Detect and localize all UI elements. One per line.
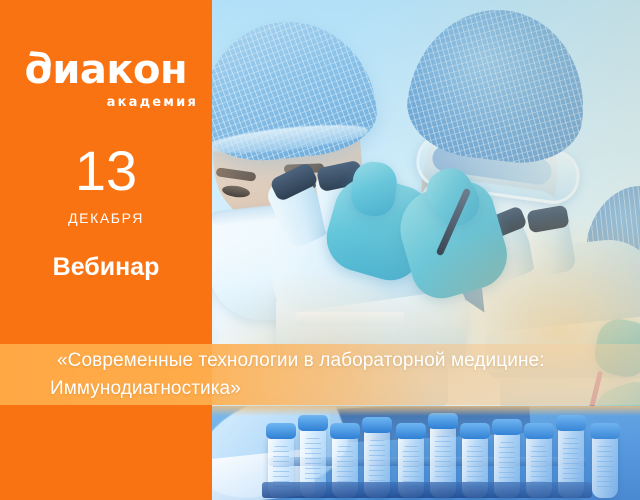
- webinar-title-line-1: «Современные технологии в лабораторной м…: [50, 347, 630, 375]
- logo-wordmark: биакон: [0, 50, 212, 90]
- logo-delta-glyph: б: [25, 50, 52, 90]
- orange-side-panel: биакон академия 13 ДЕКАБРЯ Вебинар: [0, 0, 212, 500]
- webinar-poster: биакон академия 13 ДЕКАБРЯ Вебинар «Совр…: [0, 0, 640, 500]
- event-type-label: Вебинар: [0, 255, 212, 280]
- event-month: ДЕКАБРЯ: [0, 211, 212, 225]
- diakon-academy-logo: биакон академия: [0, 50, 212, 109]
- microscope-1-slide-holder: [296, 312, 404, 326]
- event-day: 13: [0, 143, 212, 199]
- tube-rack-base: [262, 482, 592, 498]
- logo-subtitle: академия: [0, 96, 212, 109]
- test-tube: [592, 436, 618, 498]
- logo-wordmark-rest: иакон: [52, 47, 187, 93]
- webinar-title: «Современные технологии в лабораторной м…: [50, 347, 630, 403]
- webinar-title-line-2: Иммунодиагностика»: [50, 375, 630, 403]
